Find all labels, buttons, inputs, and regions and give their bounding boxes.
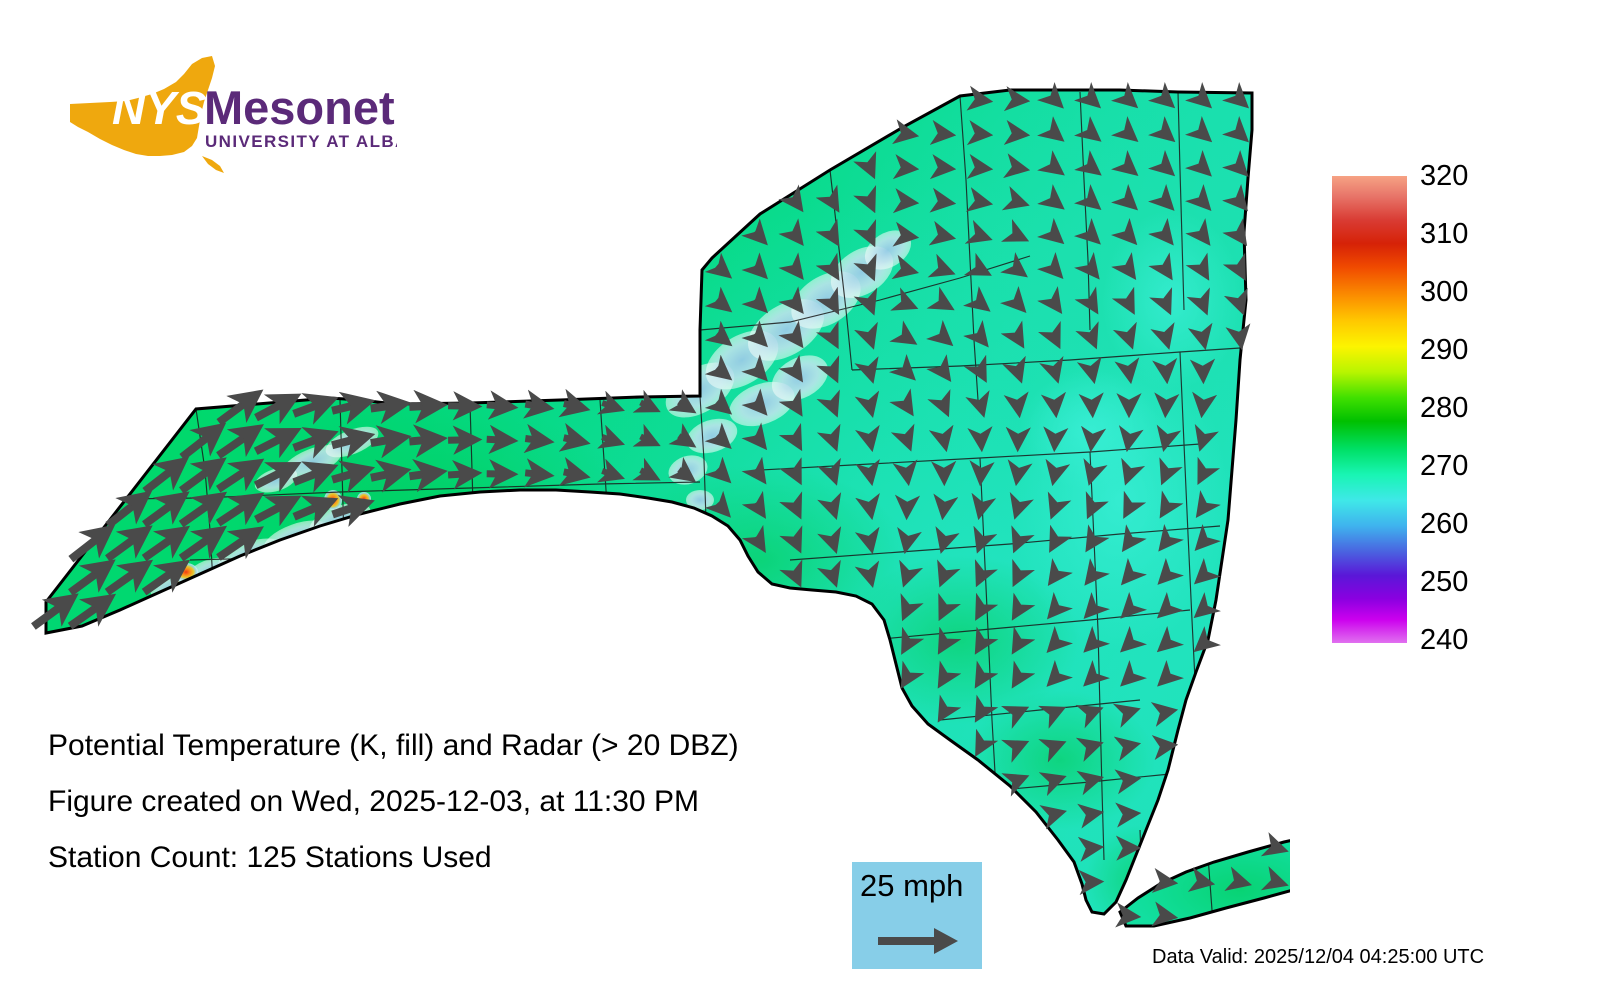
logo-nys-text: NYS: [112, 82, 207, 134]
logo-mesonet-text: Mesonet: [204, 81, 395, 134]
colorbar-tick-250: 250: [1420, 568, 1468, 597]
colorbar-tick-240: 240: [1420, 626, 1468, 655]
nys-mesonet-logo: NYS Mesonet UNIVERSITY AT ALBANY: [52, 52, 397, 177]
colorbar-tick-290: 290: [1420, 336, 1468, 365]
colorbar-tick-280: 280: [1420, 394, 1468, 423]
logo-subtitle: UNIVERSITY AT ALBANY: [205, 132, 397, 151]
wind-key-label: 25 mph: [860, 866, 963, 906]
wind-speed-reference-key: 25 mph: [852, 862, 982, 969]
colorbar-tick-300: 300: [1420, 278, 1468, 307]
caption-created-on: Figure created on Wed, 2025-12-03, at 11…: [48, 774, 888, 830]
colorbar-tick-270: 270: [1420, 452, 1468, 481]
colorbar-tick-260: 260: [1420, 510, 1468, 539]
caption-title: Potential Temperature (K, fill) and Rada…: [48, 718, 888, 774]
wind-arrow-icon: [878, 924, 960, 958]
colorbar-tick-320: 320: [1420, 162, 1468, 191]
data-valid-timestamp: Data Valid: 2025/12/04 04:25:00 UTC: [1152, 944, 1484, 970]
colorbar-tick-310: 310: [1420, 220, 1468, 249]
figure-caption: Potential Temperature (K, fill) and Rada…: [48, 718, 888, 886]
colorbar: 320 310 300 290 280 270 260 250 240: [1332, 176, 1582, 646]
colorbar-swatch: [1332, 176, 1407, 643]
caption-station-count: Station Count: 125 Stations Used: [48, 830, 888, 886]
